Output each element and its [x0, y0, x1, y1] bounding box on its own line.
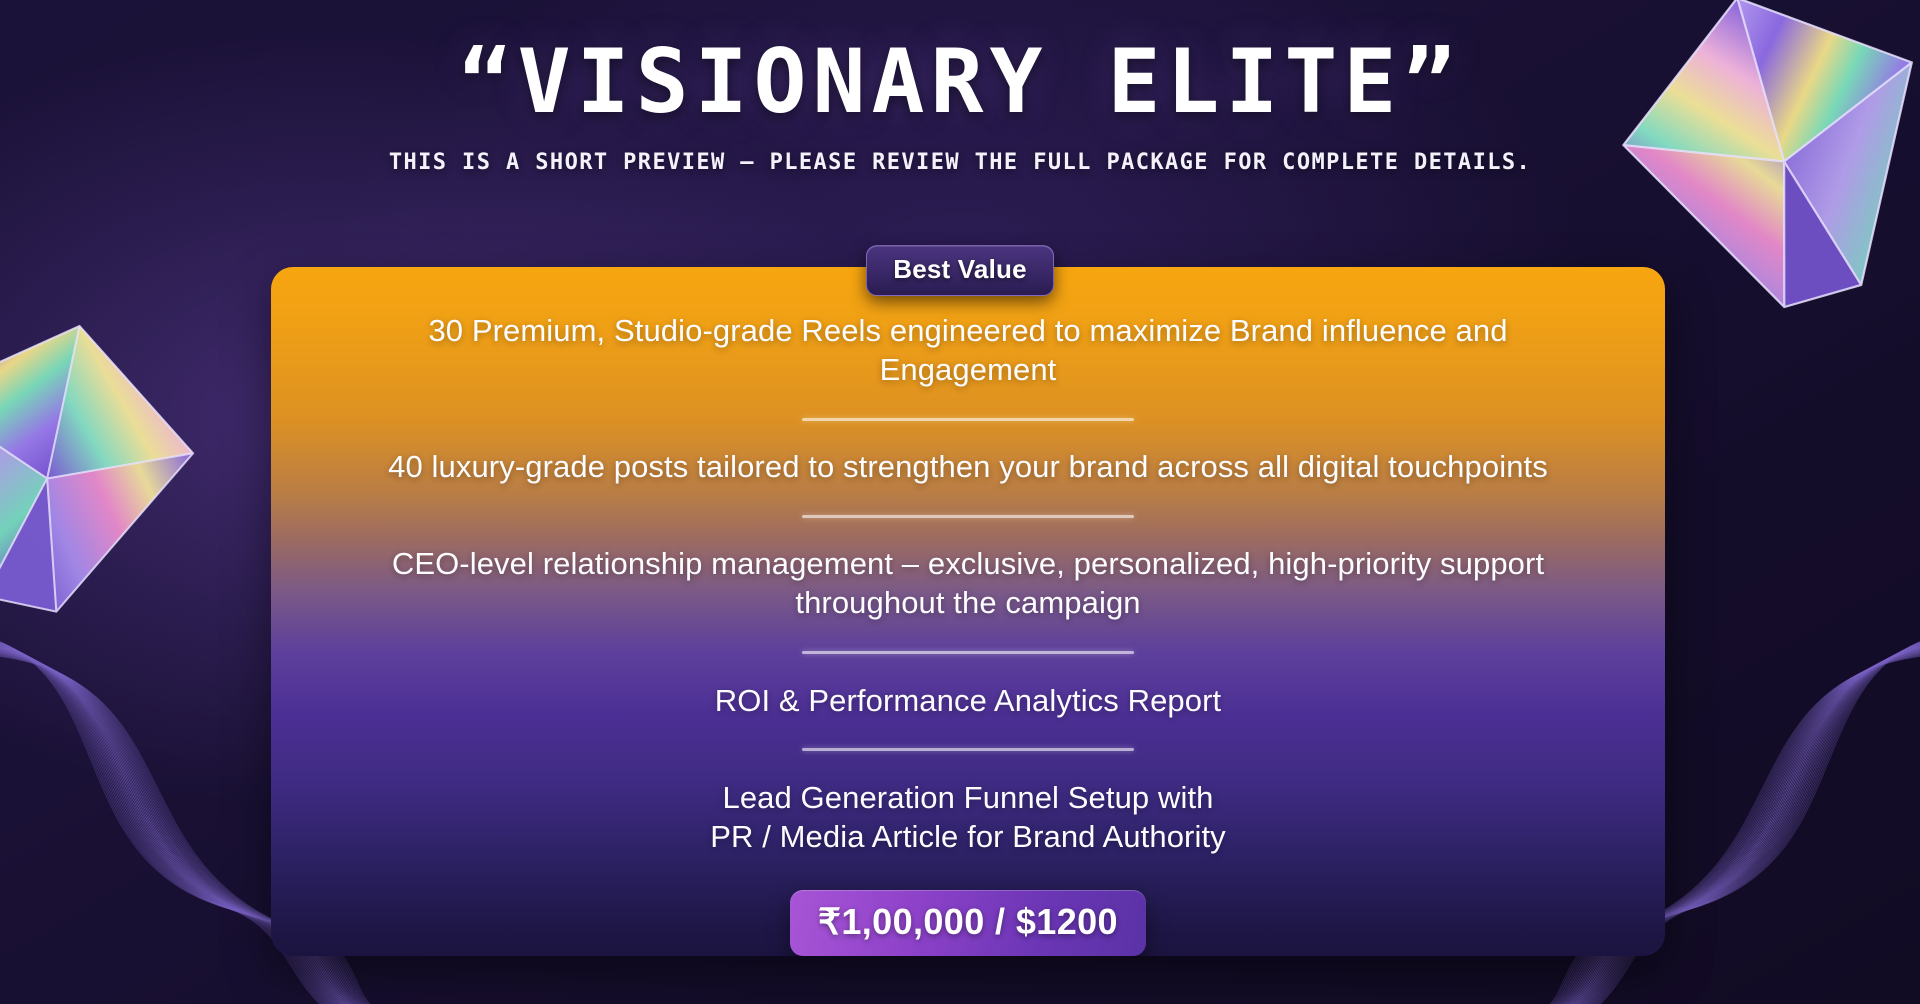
price-button[interactable]: ₹1,00,000 / $1200: [790, 890, 1146, 956]
feature-line: PR / Media Article for Brand Authority: [331, 817, 1605, 856]
prism-crystal-icon: [0, 300, 215, 635]
feature-item: 40 luxury-grade posts tailored to streng…: [331, 447, 1605, 486]
feature-item: 30 Premium, Studio-grade Reels engineere…: [331, 311, 1605, 389]
divider: [802, 748, 1134, 751]
feature-item: Lead Generation Funnel Setup with PR / M…: [331, 778, 1605, 856]
poster-canvas: “VISIONARY ELITE” THIS IS A SHORT PREVIE…: [0, 0, 1920, 1004]
page-subtitle: THIS IS A SHORT PREVIEW — PLEASE REVIEW …: [0, 150, 1920, 175]
feature-line: Lead Generation Funnel Setup with: [331, 778, 1605, 817]
feature-line: throughout the campaign: [331, 583, 1605, 622]
feature-line: 40 luxury-grade posts tailored to streng…: [331, 447, 1605, 486]
status-badge: Best Value: [866, 245, 1054, 296]
feature-item: CEO-level relationship management – excl…: [331, 544, 1605, 622]
page-title: “VISIONARY ELITE”: [0, 38, 1920, 126]
pricing-card-content: 30 Premium, Studio-grade Reels engineere…: [331, 267, 1605, 956]
feature-line: 30 Premium, Studio-grade Reels engineere…: [331, 311, 1605, 350]
poster-header: “VISIONARY ELITE” THIS IS A SHORT PREVIE…: [0, 0, 1920, 175]
feature-line: CEO-level relationship management – excl…: [331, 544, 1605, 583]
divider: [802, 418, 1134, 421]
feature-line: ROI & Performance Analytics Report: [331, 681, 1605, 720]
price-container: ₹1,00,000 / $1200: [790, 890, 1146, 956]
feature-line: Engagement: [331, 350, 1605, 389]
divider: [802, 651, 1134, 654]
pricing-card[interactable]: 30 Premium, Studio-grade Reels engineere…: [271, 267, 1665, 956]
feature-item: ROI & Performance Analytics Report: [331, 681, 1605, 720]
badge-container: Best Value: [0, 245, 1920, 296]
divider: [802, 515, 1134, 518]
